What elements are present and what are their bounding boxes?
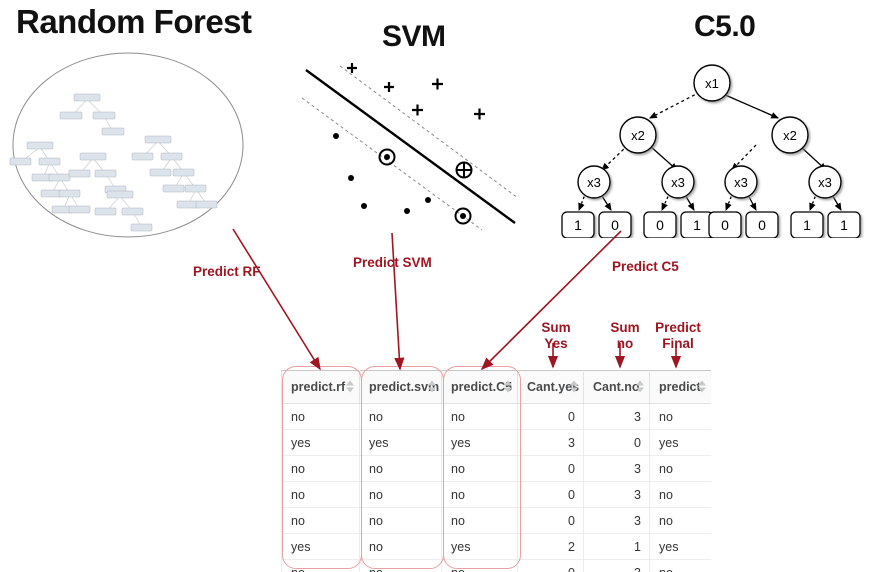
svm-title: SVM <box>382 20 446 54</box>
cell-cant-yes: 0 <box>518 508 584 534</box>
c5-leaf-boxes <box>562 212 860 238</box>
cell-predict-rf: no <box>282 560 360 572</box>
sort-arrows-icon[interactable] <box>428 381 436 394</box>
table-row[interactable]: nonono03no <box>282 456 712 482</box>
label-sum-yes-line1: Sum <box>529 320 583 336</box>
label-sum-no: Sum no <box>598 320 652 351</box>
cell-predict-c5: yes <box>442 430 518 456</box>
cell-predict-rf: no <box>282 482 360 508</box>
cell-predict-c5: yes <box>442 534 518 560</box>
c5-leaf-2: 0 <box>656 217 664 233</box>
cell-predict-c5: no <box>442 482 518 508</box>
cell-predict: no <box>650 560 712 572</box>
cell-predict-rf: yes <box>282 534 360 560</box>
table-row[interactable]: nonono03no <box>282 508 712 534</box>
cell-cant-no: 3 <box>584 508 650 534</box>
svm-margin-upper <box>340 66 518 198</box>
cell-predict: yes <box>650 534 712 560</box>
cell-cant-yes: 2 <box>518 534 584 560</box>
cell-cant-no: 1 <box>584 534 650 560</box>
c5-leaf-6: 1 <box>803 217 811 233</box>
cell-predict-svm: no <box>360 482 442 508</box>
cell-predict-rf: no <box>282 404 360 430</box>
cell-cant-yes: 0 <box>518 404 584 430</box>
c5-edges <box>579 92 841 210</box>
label-sum-yes-line2: Yes <box>529 336 583 352</box>
cell-predict: no <box>650 482 712 508</box>
label-predict-c5: Predict C5 <box>612 259 679 275</box>
cell-cant-no: 3 <box>584 482 650 508</box>
random-forest-illustration <box>8 48 258 243</box>
random-forest-svg <box>8 48 258 243</box>
cell-cant-no: 3 <box>584 560 650 572</box>
cell-predict-c5: no <box>442 456 518 482</box>
c5-leaf-0: 1 <box>574 217 582 233</box>
table-row[interactable]: nonono03no <box>282 482 712 508</box>
cell-cant-yes: 0 <box>518 456 584 482</box>
cell-cant-yes: 3 <box>518 430 584 456</box>
sort-arrows-icon[interactable] <box>346 381 354 394</box>
svm-decision-boundary <box>306 70 515 223</box>
cell-predict-rf: no <box>282 456 360 482</box>
predictions-table: predict.rf predict.svm predict.C5 Cant.y… <box>281 370 711 572</box>
cell-cant-yes: 0 <box>518 482 584 508</box>
cell-predict-c5: no <box>442 508 518 534</box>
predictions-table-container[interactable]: predict.rf predict.svm predict.C5 Cant.y… <box>281 370 711 572</box>
c5-node-root: x1 <box>705 76 719 91</box>
cell-predict-svm: yes <box>360 430 442 456</box>
column-header-predict-c5[interactable]: predict.C5 <box>442 371 518 404</box>
label-sum-no-line2: no <box>598 336 652 352</box>
cell-predict-svm: no <box>360 404 442 430</box>
arrow-predict-svm <box>392 233 400 369</box>
svm-illustration <box>300 58 535 238</box>
forest-tree-nodes <box>10 94 217 231</box>
sort-arrows-icon[interactable] <box>504 381 512 394</box>
c5-node-l2-0: x2 <box>631 128 645 143</box>
cell-predict: no <box>650 456 712 482</box>
column-header-predict[interactable]: predict <box>650 371 712 404</box>
cell-predict-svm: no <box>360 456 442 482</box>
c5-leaf-1: 0 <box>611 217 619 233</box>
sort-arrows-icon[interactable] <box>698 381 706 394</box>
sort-arrows-icon[interactable] <box>570 381 578 394</box>
label-predict-final-line2: Final <box>645 336 711 352</box>
cell-cant-yes: 0 <box>518 560 584 572</box>
svm-positive-points <box>347 63 485 120</box>
c5-leaf-7: 1 <box>840 217 848 233</box>
c5-leaf-4: 0 <box>721 217 729 233</box>
cell-predict-c5: no <box>442 560 518 572</box>
table-row[interactable]: nonono03no <box>282 560 712 572</box>
cell-predict-svm: no <box>360 508 442 534</box>
sort-arrows-icon[interactable] <box>636 381 644 394</box>
label-predict-rf: Predict RF <box>193 264 261 280</box>
table-row[interactable]: nonono03no <box>282 404 712 430</box>
c5-leaf-3: 1 <box>693 217 701 233</box>
table-row[interactable]: yesyesyes30yes <box>282 430 712 456</box>
diagram-canvas: Random Forest SVM C5.0 <box>0 0 872 572</box>
table-body: nonono03no yesyesyes30yes nonono03no non… <box>282 404 712 572</box>
table-row[interactable]: yesnoyes21yes <box>282 534 712 560</box>
cell-predict: no <box>650 404 712 430</box>
column-header-label: predict <box>659 380 701 394</box>
label-predict-final: Predict Final <box>645 320 711 351</box>
cell-predict: no <box>650 508 712 534</box>
cell-predict-svm: no <box>360 534 442 560</box>
cell-predict-rf: yes <box>282 430 360 456</box>
label-sum-no-line1: Sum <box>598 320 652 336</box>
c5-node-l2-1: x2 <box>783 128 797 143</box>
svm-svg <box>300 58 535 238</box>
cell-predict-c5: no <box>442 404 518 430</box>
cell-cant-no: 3 <box>584 404 650 430</box>
cell-predict: yes <box>650 430 712 456</box>
cell-predict-svm: no <box>360 560 442 572</box>
column-header-predict-svm[interactable]: predict.svm <box>360 371 442 404</box>
random-forest-title: Random Forest <box>16 3 252 41</box>
cell-cant-no: 3 <box>584 456 650 482</box>
label-sum-yes: Sum Yes <box>529 320 583 351</box>
column-header-cant-no[interactable]: Cant.no <box>584 371 650 404</box>
c5-node-l3-2: x3 <box>734 175 748 190</box>
cell-predict-rf: no <box>282 508 360 534</box>
column-header-label: Cant.no <box>593 380 640 394</box>
label-predict-final-line1: Predict <box>645 320 711 336</box>
column-header-label: predict.rf <box>291 380 345 394</box>
column-header-cant-yes[interactable]: Cant.yes <box>518 371 584 404</box>
c5-title: C5.0 <box>694 10 755 44</box>
c5-node-l3-0: x3 <box>587 175 601 190</box>
label-predict-svm: Predict SVM <box>353 255 432 271</box>
c5-tree-illustration: x1 x2 x2 x3 x3 x3 x3 1 0 0 <box>560 60 872 238</box>
c5-leaf-5: 0 <box>758 217 766 233</box>
column-header-label: predict.C5 <box>451 380 512 394</box>
cell-cant-no: 0 <box>584 430 650 456</box>
c5-node-l3-3: x3 <box>818 175 832 190</box>
c5-node-l3-1: x3 <box>671 175 685 190</box>
column-header-predict-rf[interactable]: predict.rf <box>282 371 360 404</box>
svm-negative-points <box>333 133 431 214</box>
table-header-row: predict.rf predict.svm predict.C5 Cant.y… <box>282 371 712 404</box>
c5-tree-svg: x1 x2 x2 x3 x3 x3 x3 1 0 0 <box>560 60 872 238</box>
arrow-predict-rf <box>233 229 320 369</box>
svm-margin-lower <box>302 98 482 230</box>
